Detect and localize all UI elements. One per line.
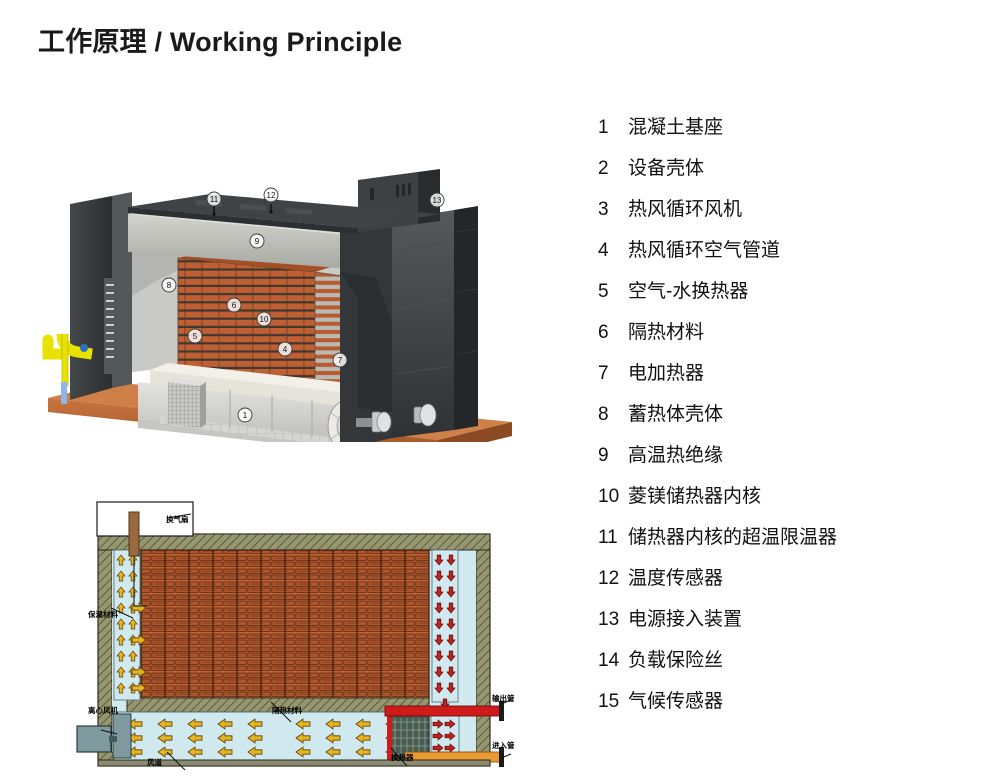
legend-item-14: 14负载保险丝 [598,645,968,686]
callout-number: 13 [433,196,442,205]
callout-number: 8 [167,281,172,290]
legend-item-label: 气候传感器 [628,686,968,713]
component-legend-list: 1混凝土基座2设备壳体3热风循环风机4热风循环空气管道5空气-水换热器6隔热材料… [598,112,968,727]
legend-item-label: 储热器内核的超温限温器 [628,522,968,549]
legend-item-number: 5 [598,281,628,303]
legend-item-label: 高温热绝缘 [628,440,968,467]
section-label-exhaust: 换气扇 [166,514,189,524]
legend-item-number: 12 [598,568,628,590]
legend-item-label: 热风循环空气管道 [628,235,968,262]
legend-item-number: 11 [598,527,628,549]
legend-item-15: 15气候传感器 [598,686,968,727]
iso-callout-13: 13 [430,193,444,207]
legend-item-number: 6 [598,322,628,344]
legend-item-10: 10菱镁储热器内核 [598,481,968,522]
legend-item-label: 混凝土基座 [628,112,968,139]
legend-item-number: 9 [598,445,628,467]
iso-callout-7: 7 [333,353,347,367]
legend-item-5: 5空气-水换热器 [598,276,968,317]
legend-item-label: 空气-水换热器 [628,276,968,303]
callout-number: 7 [338,356,343,365]
legend-item-8: 8蓄热体壳体 [598,399,968,440]
page-title: 工作原理 / Working Principle [38,20,402,59]
callout-number: 1 [243,411,248,420]
legend-item-number: 8 [598,404,628,426]
iso-callout-1: 1 [238,408,252,422]
legend-item-label: 电源接入装置 [628,604,968,631]
iso-left-casing [70,192,132,400]
legend-item-number: 3 [598,199,628,221]
iso-callout-4: 4 [278,342,292,356]
legend-item-12: 12温度传感器 [598,563,968,604]
legend-item-number: 14 [598,650,628,672]
legend-item-9: 9高温热绝缘 [598,440,968,481]
callout-number: 4 [283,345,288,354]
legend-item-4: 4热风循环空气管道 [598,235,968,276]
iso-callout-5: 5 [188,329,202,343]
legend-item-3: 3热风循环风机 [598,194,968,235]
legend-item-number: 7 [598,363,628,385]
section-right-downcomer [432,550,458,709]
legend-item-label: 设备壳体 [628,153,968,180]
iso-main-casing [340,206,478,442]
iso-callout-9: 9 [250,234,264,248]
legend-item-label: 热风循环风机 [628,194,968,221]
section-label-out-pipe: 输出管 [492,693,515,703]
legend-item-6: 6隔热材料 [598,317,968,358]
iso-callout-6: 6 [227,298,241,312]
legend-item-number: 4 [598,240,628,262]
callout-number: 11 [210,195,219,204]
iso-callout-10: 10 [257,312,271,326]
callout-number: 5 [193,332,198,341]
section-label-insulation: 保温材料 [87,609,118,619]
legend-item-2: 2设备壳体 [598,153,968,194]
iso-heat-exchanger [168,378,206,428]
legend-item-number: 10 [598,486,628,508]
iso-callout-12: 12 [264,188,278,202]
legend-item-number: 15 [598,691,628,713]
section-brick-core [141,550,429,702]
callout-number: 10 [260,315,269,324]
legend-item-label: 负载保险丝 [628,645,968,672]
legend-item-label: 电加热器 [628,358,968,385]
iso-motor-shaft-b [414,404,436,426]
legend-item-label: 蓄热体壳体 [628,399,968,426]
legend-item-13: 13电源接入装置 [598,604,968,645]
section-label-exchanger: 换热器 [391,752,414,762]
section-water-chamber [431,714,459,758]
legend-item-11: 11储热器内核的超温限温器 [598,522,968,563]
iso-callout-8: 8 [162,278,176,292]
section-label-duct: 风道 [147,757,162,767]
legend-item-label: 菱镁储热器内核 [628,481,968,508]
callout-number: 9 [255,237,260,246]
legend-item-number: 2 [598,158,628,180]
section-label-heat-ins: 隔热材料 [272,705,302,715]
legend-item-label: 隔热材料 [628,317,968,344]
legend-item-1: 1混凝土基座 [598,112,968,153]
legend-item-number: 1 [598,117,628,139]
iso-control-strip [104,278,116,374]
isometric-cutaway-figure: 12345678910111213 [40,82,520,442]
legend-item-label: 温度传感器 [628,563,968,590]
callout-number: 12 [267,191,276,200]
cross-section-figure: 换气扇保温材料离心风机风道隔热材料换热器输出管进入管 [55,490,535,782]
callout-number: 6 [232,301,237,310]
legend-item-7: 7电加热器 [598,358,968,399]
section-label-fan: 离心风机 [88,705,118,715]
section-label-in-pipe: 进入管 [492,740,515,750]
legend-item-number: 13 [598,609,628,631]
iso-callout-11: 11 [207,192,221,206]
